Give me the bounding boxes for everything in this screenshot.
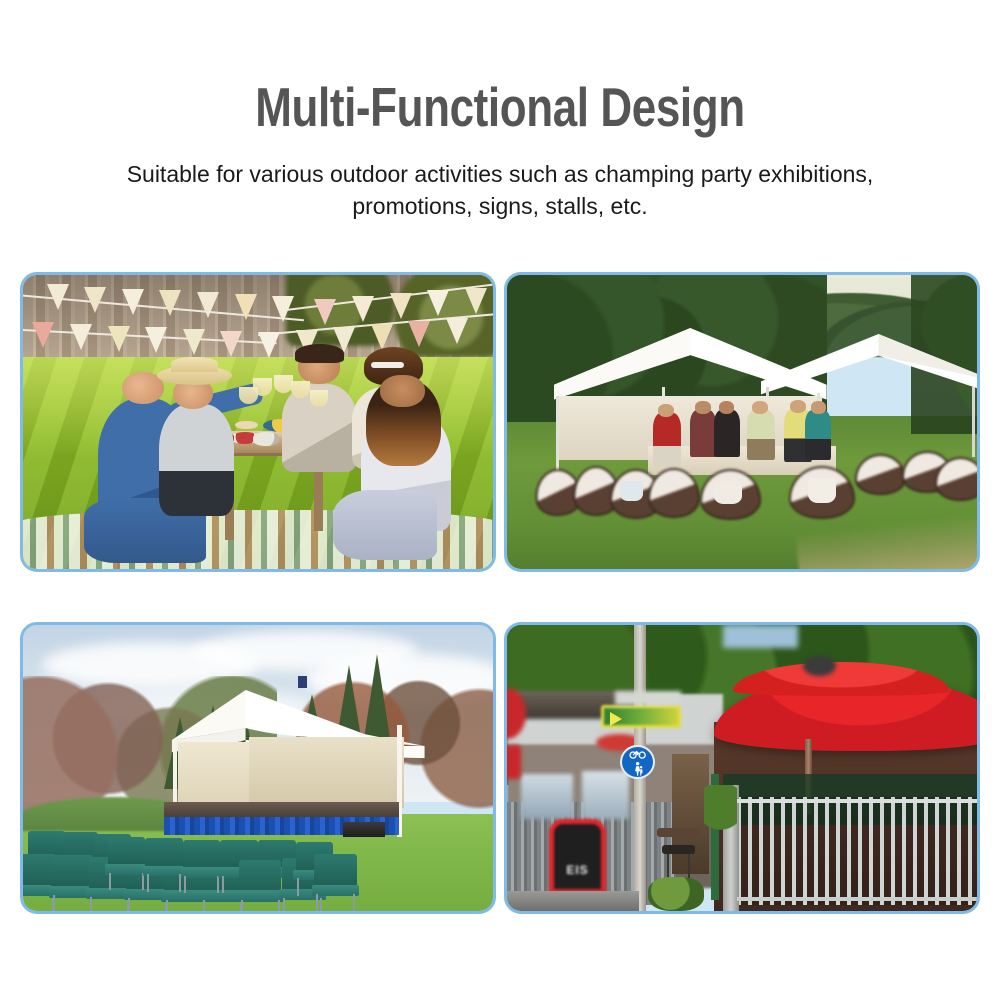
kiosk-window <box>521 774 573 820</box>
subtitle-line-1: Suitable for various outdoor activities … <box>127 161 874 187</box>
bunting-flag <box>314 299 336 325</box>
photo-garden-party <box>23 275 493 569</box>
tent-finial-flag <box>298 676 307 688</box>
gallery-image-garden-party[interactable] <box>20 272 496 572</box>
sign-white-plate <box>615 691 681 705</box>
person-green-shirt <box>747 410 775 460</box>
bunting-flag <box>145 327 167 353</box>
fence-rail <box>737 799 977 803</box>
person-head <box>790 400 806 413</box>
bunting-flag <box>427 290 449 316</box>
tent-leg <box>556 396 559 472</box>
photo-marquee-stage <box>23 625 493 911</box>
roadside-kerb <box>507 891 639 911</box>
bunting-flag <box>272 296 294 322</box>
teapot <box>253 432 279 445</box>
subtitle-line-2: promotions, signs, stalls, etc. <box>352 193 647 219</box>
folding-chair <box>183 840 221 891</box>
coffee-cup-graphic <box>620 481 644 502</box>
coffee-cup-graphic <box>714 481 742 505</box>
person-dark-shirt <box>690 410 716 457</box>
bunting-flag <box>122 289 144 315</box>
folding-chair <box>108 837 146 888</box>
folding-chair <box>239 860 281 911</box>
person-head <box>752 401 768 414</box>
bunting-flag <box>408 321 430 347</box>
bunting-flag <box>84 287 106 313</box>
bunting-flag <box>352 296 374 322</box>
bicycle-pedestrian-icon <box>622 747 653 777</box>
bunting-flag <box>220 331 242 357</box>
person-teal-shirt <box>805 410 831 460</box>
page-title: Multi-Functional Design <box>100 76 900 138</box>
person-dark-hair <box>714 410 740 457</box>
red-awning-left <box>507 745 521 779</box>
planter-shrub <box>648 877 704 911</box>
kiosk-window <box>582 771 629 820</box>
bunting-flag <box>258 332 280 358</box>
cycle-pedestrian-sign[interactable] <box>620 745 655 779</box>
person-red-shirt <box>653 413 681 466</box>
fence-rail <box>737 897 977 901</box>
coffee-cup-graphic <box>808 478 836 503</box>
bunting-flag <box>32 322 54 348</box>
folding-chair <box>145 838 183 889</box>
person-head <box>811 401 826 413</box>
arrow-left-icon <box>610 712 622 726</box>
tent-leg <box>972 387 975 458</box>
tent-wall-left <box>178 742 258 811</box>
bunting-flag <box>371 324 393 350</box>
image-gallery: EIS <box>20 272 980 914</box>
canopy-tent-front-roof <box>554 328 827 404</box>
bunting-flag <box>47 284 69 310</box>
metal-railing-gate <box>737 797 977 906</box>
bunting-flag <box>390 293 412 319</box>
cafe-stool <box>662 845 695 854</box>
person-skirt <box>333 490 436 561</box>
a-board-sign[interactable]: EIS <box>549 819 605 893</box>
person-hair <box>295 344 344 363</box>
person-straw-hat <box>159 404 234 516</box>
straw-hat-crown <box>171 357 218 372</box>
bunting-flag <box>159 290 181 316</box>
sunglasses <box>371 362 404 368</box>
person-head <box>380 375 425 407</box>
gallery-image-marquee-stage[interactable] <box>20 622 496 914</box>
page-subtitle: Suitable for various outdoor activities … <box>0 158 1000 222</box>
photo-canopy-tents <box>507 275 977 569</box>
stage-platform <box>164 802 399 816</box>
potted-plant <box>704 785 737 854</box>
stage-steps <box>343 822 385 836</box>
bunting-flag <box>197 292 219 318</box>
folding-chair <box>51 855 93 911</box>
bunting-flag <box>235 294 257 320</box>
tent-wall-back <box>249 737 404 809</box>
a-board-text: EIS <box>554 863 600 877</box>
header: Multi-Functional Design Suitable for var… <box>0 0 1000 222</box>
bunting-flag <box>108 326 130 352</box>
product-feature-page: Multi-Functional Design Suitable for var… <box>0 0 1000 1000</box>
person-head <box>695 401 711 413</box>
folding-chair <box>314 854 356 911</box>
gallery-image-red-parasol[interactable]: EIS <box>504 622 980 914</box>
bunting-flag <box>183 329 205 355</box>
bunting-flag <box>446 318 468 344</box>
bunting-flag <box>70 324 92 350</box>
gallery-image-canopy-tents[interactable] <box>504 272 980 572</box>
bunting-flag <box>465 288 487 314</box>
sky-patch <box>723 625 798 648</box>
photo-red-parasol: EIS <box>507 625 977 911</box>
person-head <box>719 401 735 413</box>
cafe-table <box>657 828 699 837</box>
